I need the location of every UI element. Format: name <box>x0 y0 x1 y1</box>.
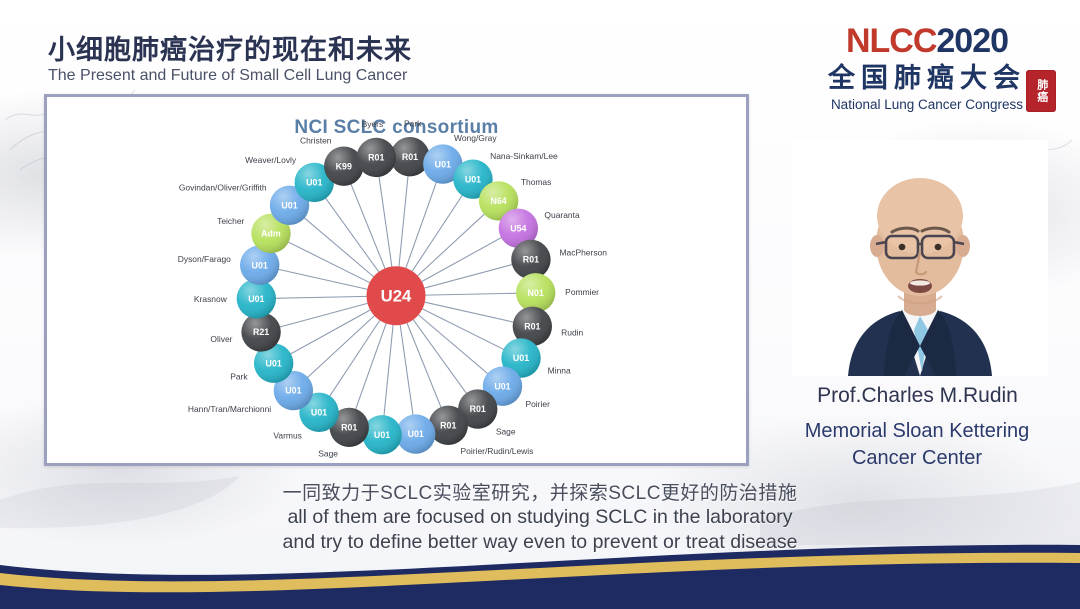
network-node[interactable]: U01 <box>362 415 401 454</box>
logo-year-text: 2020 <box>936 22 1008 60</box>
node-grant-code: N64 <box>491 196 507 206</box>
node-pi-label: Rudin <box>561 327 583 337</box>
node-pi-label: Thomas <box>521 177 552 187</box>
logo-english-name: National Lung Cancer Congress <box>796 97 1058 112</box>
network-node[interactable]: N01 <box>516 273 555 312</box>
node-pi-label: Park <box>230 371 248 381</box>
network-node[interactable]: R01 <box>390 137 429 176</box>
node-grant-code: R21 <box>253 327 269 337</box>
node-grant-code: U01 <box>285 386 301 396</box>
node-grant-code: U01 <box>311 407 327 417</box>
node-pi-label: Quaranta <box>544 210 580 220</box>
node-pi-label: Dyson/Farago <box>178 254 231 264</box>
node-grant-code: R01 <box>368 153 384 163</box>
node-pi-label: Christen <box>300 136 332 146</box>
node-pi-label: Poirier/Rudin/Lewis <box>461 446 534 456</box>
node-grant-code: U54 <box>510 223 526 233</box>
logo-nlcc-text: NLCC <box>846 22 936 60</box>
node-grant-code: K99 <box>336 161 352 171</box>
consortium-network-diagram: R01U01U01N64U54R01N01R01U01U01R01R01U01U… <box>47 97 746 463</box>
node-grant-code: U01 <box>281 200 297 210</box>
page-title-chinese: 小细胞肺癌治疗的现在和未来 <box>48 28 412 67</box>
slide-image-frame: NCI SCLC consortium R01U01U01N64U54R01N0… <box>44 94 749 466</box>
node-pi-label: Park <box>404 118 422 128</box>
node-pi-label: Varmus <box>273 430 302 440</box>
subtitle-chinese: 一同致力于SCLC实验室研究，并探索SCLC更好的防治措施 <box>0 478 1080 505</box>
node-grant-code: U01 <box>513 353 529 363</box>
network-node[interactable]: U01 <box>237 279 276 318</box>
speaker-name: Prof.Charles M.Rudin <box>760 384 1075 408</box>
footer-band <box>0 539 1080 609</box>
node-pi-label: Govindan/Oliver/Griffith <box>179 182 267 192</box>
node-grant-code: U01 <box>494 381 510 391</box>
node-pi-label: Teicher <box>217 216 244 226</box>
node-grant-code: U01 <box>435 159 451 169</box>
network-node[interactable]: R21 <box>241 312 280 351</box>
node-pi-label: Pommier <box>565 287 599 297</box>
node-pi-label: Wong/Gray <box>454 133 497 143</box>
page-title-english: The Present and Future of Small Cell Lun… <box>48 67 407 85</box>
speaker-affiliation-line-2: Cancer Center <box>756 445 1078 472</box>
logo-chinese-name: 全国肺癌大会 <box>796 62 1058 96</box>
node-pi-label: Nana-Sinkam/Lee <box>490 151 558 161</box>
logo-wordmark: NLCC2020 <box>796 24 1058 58</box>
node-grant-code: U01 <box>408 429 424 439</box>
node-pi-label: Krasnow <box>194 294 228 304</box>
network-node[interactable]: R01 <box>357 138 396 177</box>
hub-node-label: U24 <box>381 287 412 306</box>
subtitle-english-line-1: all of them are focused on studying SCLC… <box>0 505 1080 530</box>
node-pi-label: Sage <box>496 426 516 436</box>
conference-logo: NLCC2020 全国肺癌大会 National Lung Cancer Con… <box>796 24 1058 112</box>
speaker-affiliation-line-1: Memorial Sloan Kettering <box>756 418 1078 445</box>
node-pi-label: MacPherson <box>560 247 608 257</box>
speaker-affiliation: Memorial Sloan Kettering Cancer Center <box>756 418 1078 472</box>
node-grant-code: R01 <box>524 321 540 331</box>
node-grant-code: R01 <box>402 152 418 162</box>
network-node[interactable]: R01 <box>511 240 550 279</box>
node-grant-code: U01 <box>374 430 390 440</box>
node-grant-code: U01 <box>306 178 322 188</box>
node-grant-code: N01 <box>528 288 544 298</box>
node-pi-label: Sage <box>318 448 338 458</box>
network-node[interactable]: U01 <box>396 414 435 453</box>
node-grant-code: U01 <box>266 358 282 368</box>
node-grant-code: U01 <box>248 294 264 304</box>
node-grant-code: Adm <box>261 229 281 239</box>
presentation-slide: 小细胞肺癌治疗的现在和未来 The Present and Future of … <box>0 0 1080 609</box>
seal-stamp-icon: 肺癌 <box>1026 70 1056 112</box>
node-pi-label: Byers <box>362 119 384 129</box>
node-grant-code: U01 <box>465 174 481 184</box>
node-grant-code: U01 <box>252 260 268 270</box>
node-pi-label: Oliver <box>210 334 232 344</box>
node-pi-label: Minna <box>548 365 571 375</box>
node-grant-code: R01 <box>523 255 539 265</box>
node-pi-label: Weaver/Lovly <box>245 155 297 165</box>
node-grant-code: R01 <box>440 420 456 430</box>
node-grant-code: R01 <box>341 423 357 433</box>
node-grant-code: R01 <box>470 404 486 414</box>
node-pi-label: Poirier <box>525 399 550 409</box>
speaker-portrait <box>792 140 1048 376</box>
node-pi-label: Hann/Tran/Marchionni <box>188 404 271 414</box>
